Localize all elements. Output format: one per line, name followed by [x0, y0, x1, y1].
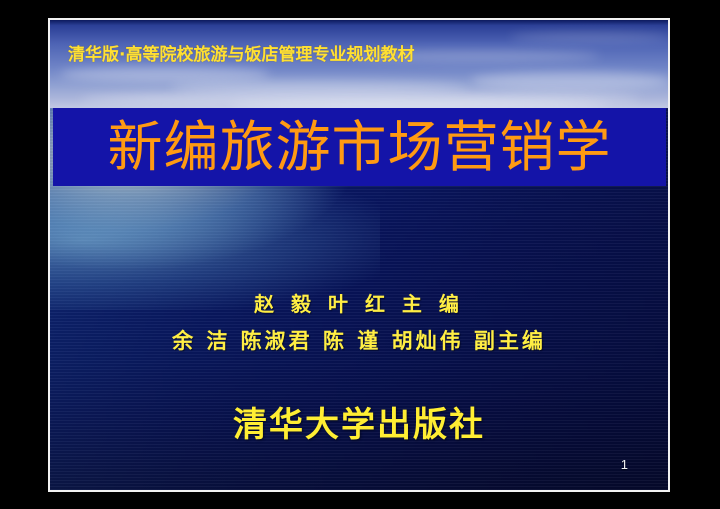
series-line: 清华版·高等院校旅游与饭店管理专业规划教材	[68, 40, 414, 65]
presentation-slide[interactable]: 清华版·高等院校旅游与饭店管理专业规划教材 新编旅游市场营销学 赵 毅 叶 红 …	[50, 20, 668, 490]
slide-viewer: 清华版·高等院校旅游与饭店管理专业规划教材 新编旅游市场营销学 赵 毅 叶 红 …	[0, 0, 720, 509]
cloud-shape	[470, 72, 668, 90]
cloud-shape	[60, 66, 270, 82]
sky-background	[50, 20, 668, 110]
book-title: 新编旅游市场营销学	[107, 120, 611, 175]
cloud-shape	[510, 32, 668, 42]
publisher-name: 清华大学出版社	[50, 397, 668, 446]
page-number: 1	[621, 457, 628, 472]
chief-editors-line: 赵 毅 叶 红 主 编	[50, 288, 668, 317]
title-band: 新编旅游市场营销学	[53, 108, 666, 186]
slide-frame: 清华版·高等院校旅游与饭店管理专业规划教材 新编旅游市场营销学 赵 毅 叶 红 …	[48, 18, 670, 492]
associate-editors-line: 余 洁 陈淑君 陈 谨 胡灿伟 副主编	[50, 325, 668, 355]
